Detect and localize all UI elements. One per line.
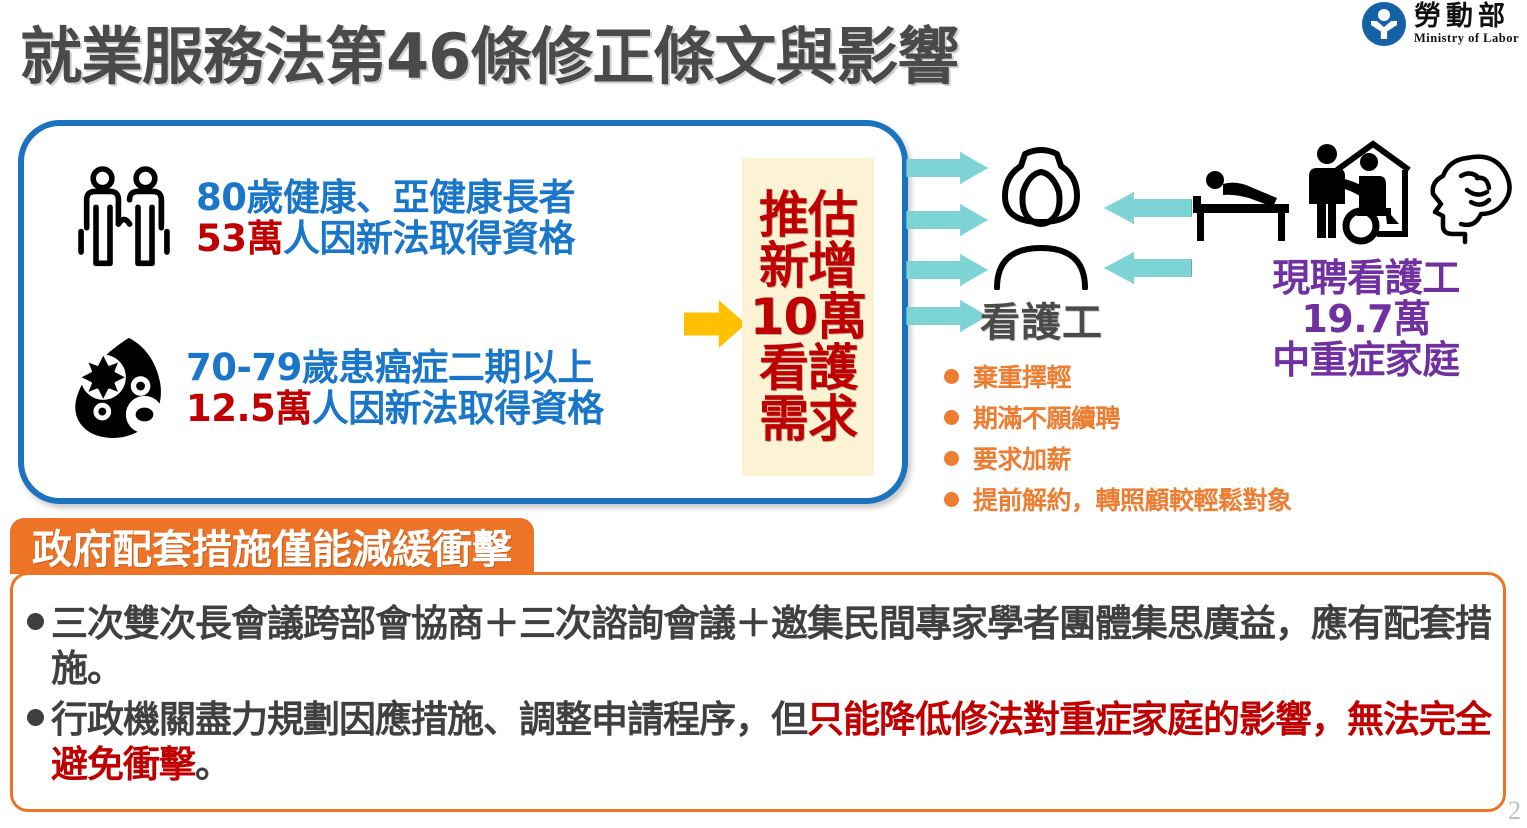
nurse-caregiver-icon [975,140,1107,290]
caregiver-label: 看護工 [980,290,1103,348]
behaviour-text: 要求加薪 [973,440,1071,476]
slide-root: 就業服務法第46條修正條文與影響 勞動部 Ministry of Labor [0,0,1527,828]
fact-highlight: 12.5萬 [186,387,312,430]
estimate-line: 看護 [759,343,857,394]
fact-rest: 人因新法取得資格 [283,217,575,260]
estimate-line: 需求 [759,394,857,445]
existing-line-3: 中重症家庭 [1216,340,1516,381]
ministry-logo: 勞動部 Ministry of Labor [1362,2,1519,46]
fact-rest: 人因新法取得資格 [312,387,604,430]
fact-line-2: 12.5萬人因新法取得資格 [186,388,604,429]
list-item: 提前解約，轉照顧較輕鬆對象 [944,481,1292,517]
fact-line-1: 80歲健康、亞健康長者 [196,177,575,218]
conclusion-text-1: 三次雙次長會議跨部會協商＋三次諮詢會議＋邀集民間專家學者團體集思廣益，應有配套措… [51,601,1493,691]
behaviour-text: 提前解約，轉照顧較輕鬆對象 [973,481,1292,517]
caregiver-behaviour-list: 棄重擇輕 期滿不願續聘 要求加薪 提前解約，轉照顧較輕鬆對象 [944,358,1292,522]
fact-text-elderly: 80歲健康、亞健康長者 53萬人因新法取得資格 [196,177,575,260]
existing-line-1: 現聘看護工 [1216,258,1516,299]
teal-left-arrow-icon [1104,252,1192,284]
ministry-of-labor-emblem-icon [1362,2,1406,46]
wheelchair-caregiver-home-icon [1301,140,1417,248]
estimate-line: 推估 [759,190,857,241]
list-item: 期滿不願續聘 [944,399,1292,435]
existing-line-2: 19.7萬 [1216,299,1516,340]
bullet-dot-icon [27,709,44,726]
fact-highlight: 53萬 [196,217,283,260]
list-item: 行政機關盡力規劃因應措施、調整申請程序，但只能降低修法對重症家庭的影響，無法完全… [13,697,1503,787]
estimate-line: 新增 [759,241,857,292]
bullet-dot-icon [944,369,959,384]
logo-name-cn: 勞動部 [1414,3,1519,30]
page-title: 就業服務法第46條修正條文與影響 [20,6,958,96]
conclusion-tail: 。 [195,743,231,786]
fact-line-1: 70-79歲患癌症二期以上 [186,347,604,388]
existing-caregiver-icons [1185,140,1517,248]
list-item: 三次雙次長會議跨部會協商＋三次諮詢會議＋邀集民間專家學者團體集思廣益，應有配套措… [13,601,1503,691]
cancer-cells-icon [58,334,176,442]
conclusion-panel: 三次雙次長會議跨部會協商＋三次諮詢會議＋邀集民間專家學者團體集思廣益，應有配套措… [10,572,1506,812]
estimate-line: 10萬 [750,292,867,343]
measures-banner: 政府配套措施僅能減緩衝擊 [10,518,534,574]
elderly-couple-icon [68,164,180,272]
behaviour-text: 期滿不願續聘 [973,399,1120,435]
bullet-dot-icon [27,613,44,630]
page-number: 2 [1508,796,1521,826]
list-item: 要求加薪 [944,440,1292,476]
teal-right-arrow-icon [906,300,988,332]
behaviour-text: 棄重擇輕 [973,358,1071,394]
teal-left-arrow-icon [1104,192,1192,224]
estimate-box: 推估 新增 10萬 看護 需求 [742,158,874,476]
conclusion-text-2: 行政機關盡力規劃因應措施、調整申請程序，但只能降低修法對重症家庭的影響，無法完全… [51,697,1493,787]
dementia-brain-icon [1421,150,1517,248]
bullet-dot-icon [944,410,959,425]
fact-row-cancer: 70-79歲患癌症二期以上 12.5萬人因新法取得資格 [58,334,604,442]
bullet-dot-icon [944,451,959,466]
fact-text-cancer: 70-79歲患癌症二期以上 12.5萬人因新法取得資格 [186,347,604,430]
conclusion-lead: 行政機關盡力規劃因應措施、調整申請程序，但 [51,698,807,741]
bedridden-patient-icon [1185,156,1297,248]
bullet-dot-icon [944,492,959,507]
existing-caregiver-stats: 現聘看護工 19.7萬 中重症家庭 [1216,258,1516,381]
fact-row-elderly: 80歲健康、亞健康長者 53萬人因新法取得資格 [68,164,575,272]
logo-name-en: Ministry of Labor [1414,32,1519,45]
logo-text-block: 勞動部 Ministry of Labor [1414,3,1519,45]
measures-banner-label: 政府配套措施僅能減緩衝擊 [32,517,512,575]
fact-line-2: 53萬人因新法取得資格 [196,218,575,259]
